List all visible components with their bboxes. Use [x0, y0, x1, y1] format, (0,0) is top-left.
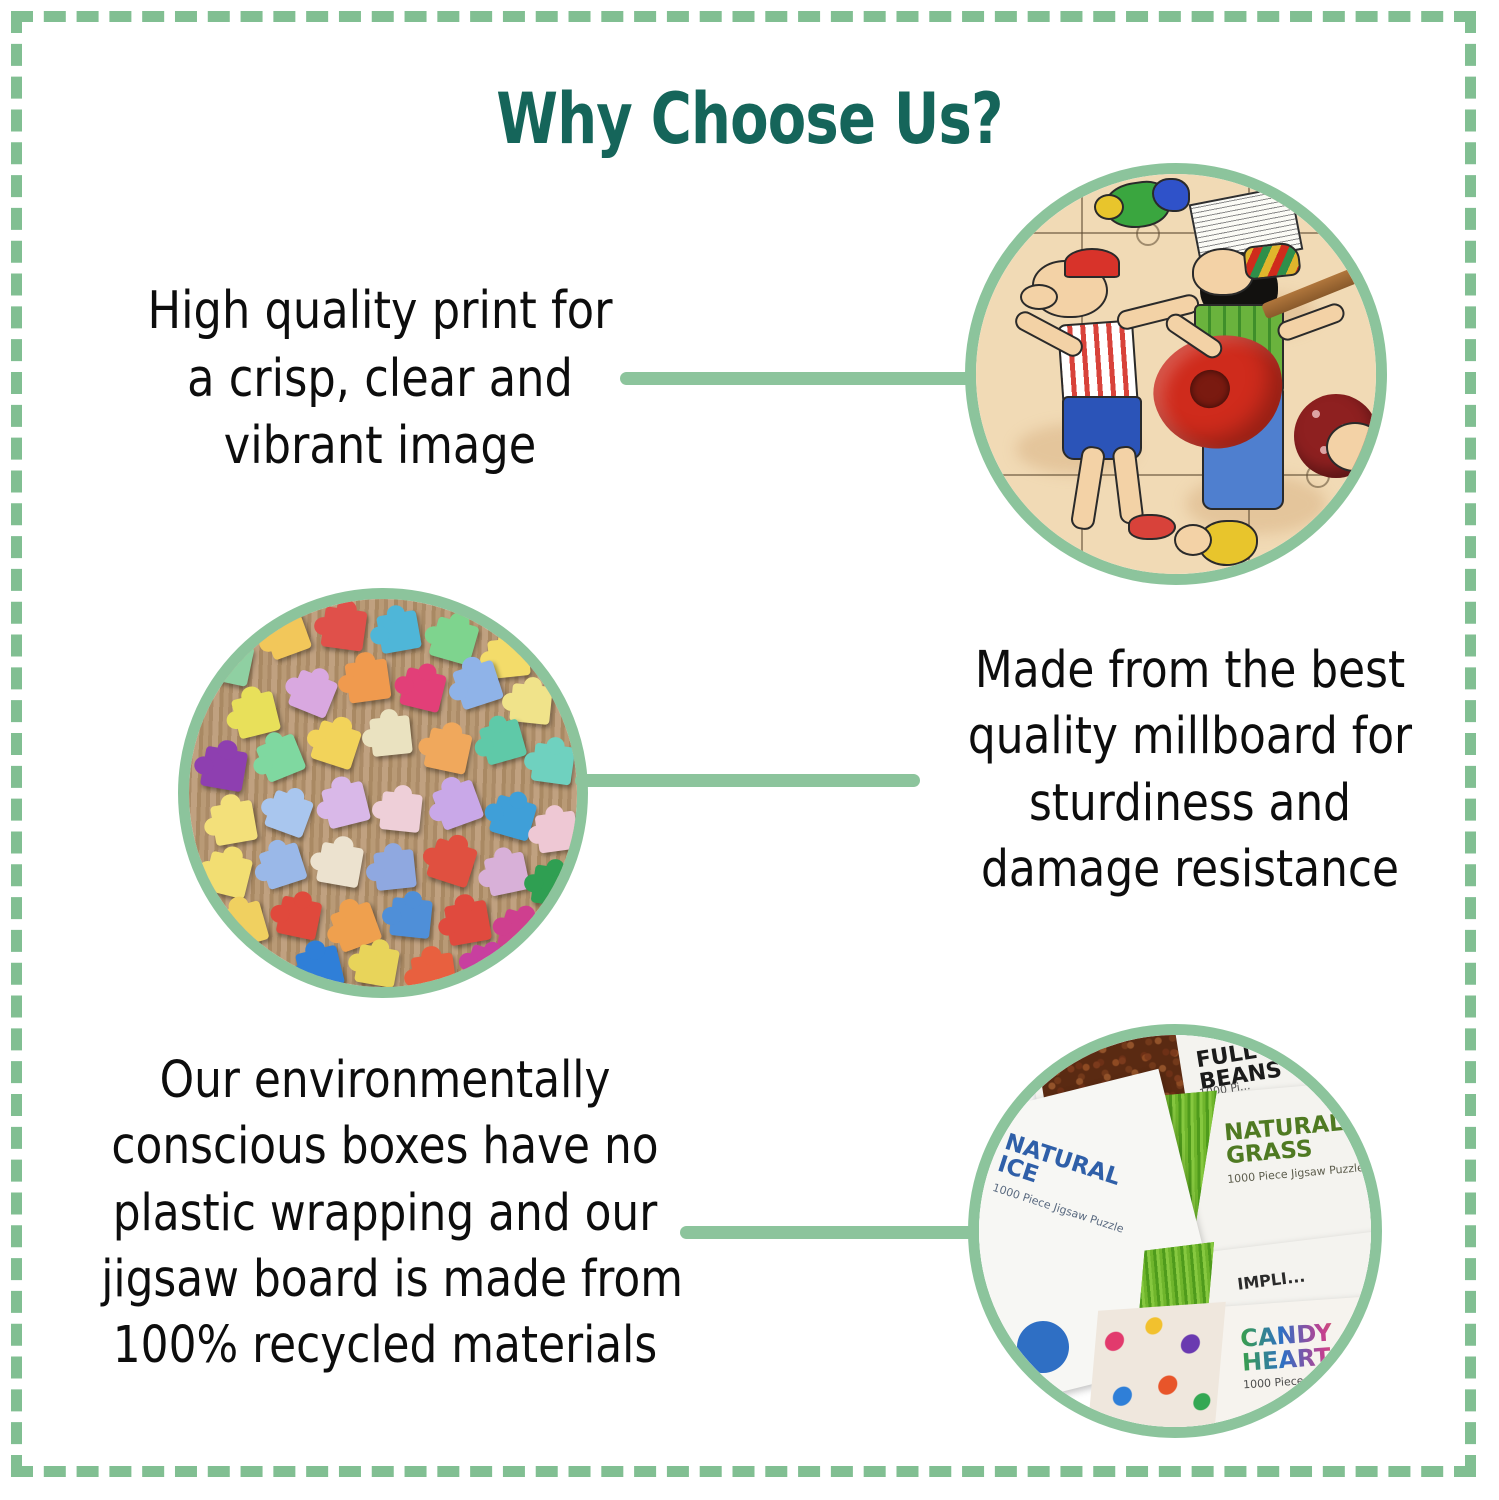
- puzzle-piece: [316, 842, 364, 889]
- puzzle-piece: [531, 742, 576, 785]
- infographic-page: Why Choose Us? High quality print for a …: [0, 0, 1499, 1500]
- puzzle-piece: [344, 658, 391, 703]
- puzzle-boxes-art: FULL OF BEANS 1000 Pi... NATURAL GRASS 1…: [979, 1035, 1371, 1427]
- puzzle-piece: [373, 849, 417, 891]
- puzzle-cut: [976, 232, 1387, 234]
- feature-line: conscious boxes have no: [101, 1114, 669, 1180]
- red-cap: [1064, 248, 1120, 278]
- character-nose: [1020, 284, 1058, 310]
- connector-line-2: [575, 774, 920, 787]
- parrot-head: [1094, 194, 1124, 220]
- puzzle-piece: [535, 810, 580, 853]
- box-title: CANDY HEARTS: [1239, 1315, 1382, 1375]
- sandal: [1128, 514, 1176, 540]
- puzzle-piece: [531, 864, 576, 907]
- feature-image-scattered-puzzle-pieces: [178, 588, 588, 998]
- puzzle-piece: [423, 727, 472, 775]
- puzzle-piece: [200, 746, 248, 793]
- feature-text-best-quality-millboard: Made from the best quality millboard for…: [962, 638, 1418, 903]
- page-title: Why Choose Us?: [150, 78, 1349, 160]
- bandana: [1242, 241, 1301, 281]
- feature-line: sturdiness and: [962, 771, 1418, 837]
- puzzle-piece: [389, 897, 433, 939]
- feature-line: damage resistance: [962, 837, 1418, 903]
- puzzle-piece: [444, 900, 492, 947]
- feature-line: quality millboard for: [962, 704, 1418, 770]
- feature-line: vibrant image: [139, 413, 621, 481]
- hair-highlight: [1312, 410, 1320, 418]
- puzzle-piece: [205, 639, 254, 687]
- feature-line: a crisp, clear and: [139, 346, 621, 414]
- character-face: [1326, 422, 1384, 472]
- puzzle-piece: [376, 610, 422, 654]
- puzzle-piece: [369, 715, 413, 757]
- puzzle-piece: [320, 606, 367, 651]
- puzzle-piece: [379, 791, 423, 833]
- puzzle-piece: [275, 895, 322, 940]
- puzzle-piece: [410, 952, 457, 997]
- feature-line: Made from the best: [962, 638, 1418, 704]
- parrot-wing: [1152, 178, 1190, 212]
- feature-line: jigsaw board is made from: [101, 1247, 669, 1313]
- scattered-puzzle-pieces-art: [189, 599, 577, 987]
- bird-head: [1174, 524, 1212, 556]
- puzzle-piece: [483, 851, 530, 896]
- feature-image-puzzle-boxes: FULL OF BEANS 1000 Pi... NATURAL GRASS 1…: [968, 1024, 1382, 1438]
- connector-line-3: [680, 1226, 990, 1239]
- candy-texture: [1084, 1302, 1226, 1438]
- feature-line: High quality print for: [139, 278, 621, 346]
- feature-text-recycled-eco-boxes: Our environmentally conscious boxes have…: [101, 1048, 669, 1379]
- puzzle-piece: [210, 800, 258, 847]
- feature-image-cartoon-beach-jigsaw: [965, 163, 1387, 585]
- feature-text-high-quality-print: High quality print for a crisp, clear an…: [139, 278, 621, 481]
- puzzle-piece: [354, 944, 400, 988]
- cartoon-beach-jigsaw-art: [976, 174, 1376, 574]
- feature-line: 100% recycled materials: [101, 1313, 669, 1379]
- feature-line: plastic wrapping and our: [101, 1181, 669, 1247]
- feature-line: Our environmentally: [101, 1048, 669, 1114]
